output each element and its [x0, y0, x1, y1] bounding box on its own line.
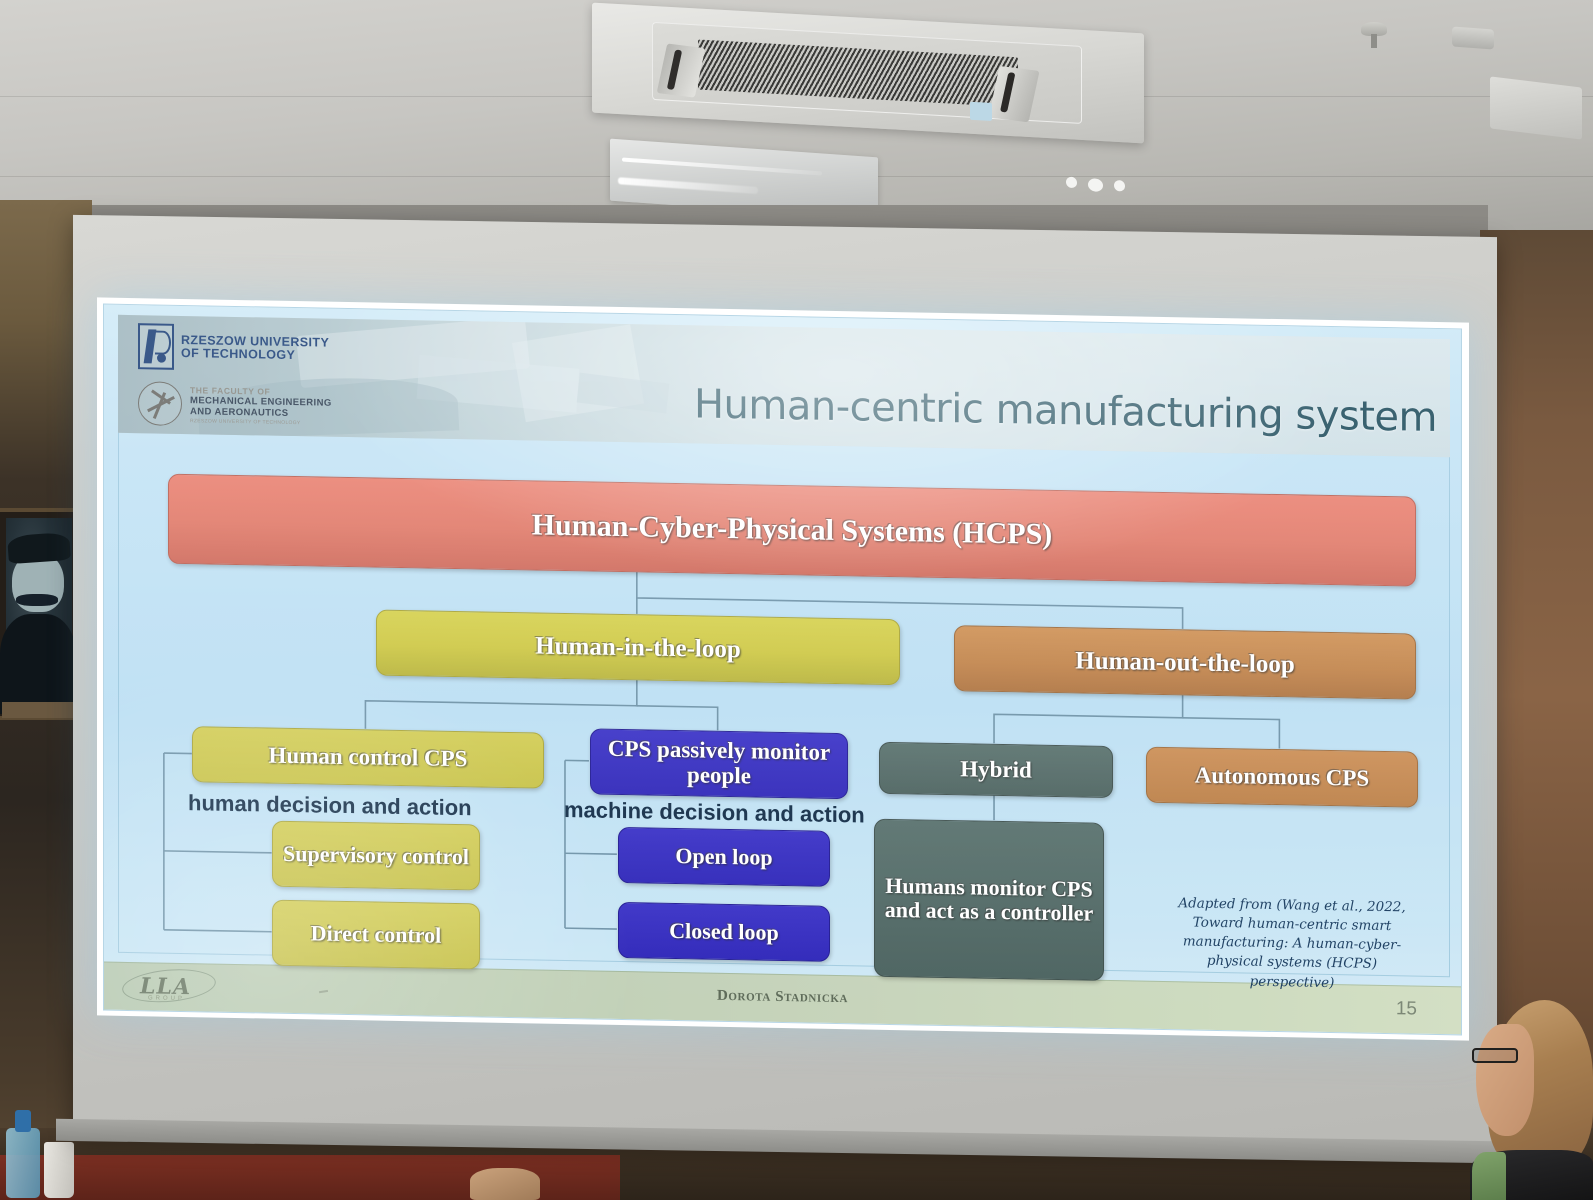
- attendee-glasses-icon: [1472, 1048, 1518, 1063]
- ceiling-speaker: [1452, 27, 1494, 50]
- box-supervisory-control[interactable]: Supervisory control: [272, 821, 480, 891]
- seated-attendee: [1470, 1000, 1593, 1200]
- footer-page-number: 15: [1396, 998, 1417, 1020]
- university-name-line2: OF TECHNOLOGY: [181, 347, 329, 363]
- ceiling-vent-right: [1490, 76, 1582, 139]
- portrait-moustache: [16, 594, 58, 606]
- box-open-loop[interactable]: Open loop: [618, 827, 830, 887]
- portrait-canvas: [6, 518, 72, 710]
- portrait-hat: [7, 532, 71, 564]
- water-bottle: [6, 1110, 40, 1198]
- lla-logo-sub: GROUP: [148, 995, 185, 1002]
- caption-human-decision-and-action: human decision and action: [188, 790, 472, 821]
- fire-sprinkler: [1345, 22, 1405, 56]
- light-dot: [1066, 177, 1077, 189]
- caption-machine-decision-and-action: machine decision and action: [564, 797, 865, 829]
- ac-badge: [970, 102, 992, 121]
- attendee-face: [1476, 1024, 1534, 1136]
- portrait-plaque: [2, 702, 80, 718]
- faculty-logo-text: THE FACULTY OF MECHANICAL ENGINEERING AN…: [190, 385, 332, 427]
- box-human-out-the-loop[interactable]: Human-out-the-loop: [954, 625, 1416, 699]
- attendee-hand: [470, 1168, 540, 1200]
- box-closed-loop[interactable]: Closed loop: [618, 902, 830, 962]
- source-citation: Adapted from (Wang et al., 2022, Toward …: [1166, 894, 1418, 994]
- ac-grille: [698, 39, 1018, 107]
- wall-portrait: [0, 508, 82, 720]
- faculty-aeronautics-mark-icon: [138, 381, 182, 426]
- attendee-collar: [1472, 1152, 1506, 1200]
- bottle-body: [6, 1128, 40, 1198]
- presentation-slide: RZESZOW UNIVERSITY OF TECHNOLOGY THE FAC…: [97, 297, 1469, 1040]
- box-humans-monitor-cps-controller[interactable]: Humans monitor CPS and act as a controll…: [874, 819, 1104, 981]
- light-dot: [1114, 180, 1125, 192]
- faculty-line4: RZESZOW UNIVERSITY OF TECHNOLOGY: [190, 418, 332, 427]
- wing-icon: [151, 390, 171, 405]
- box-direct-control[interactable]: Direct control: [272, 900, 480, 970]
- bottle-cap: [15, 1110, 31, 1132]
- sprinkler-stem: [1371, 34, 1377, 48]
- box-cps-passively-monitor-people[interactable]: CPS passively monitor people: [590, 728, 848, 799]
- university-logo: RZESZOW UNIVERSITY OF TECHNOLOGY: [138, 323, 332, 373]
- paper-cup: [44, 1142, 74, 1198]
- institution-logos: RZESZOW UNIVERSITY OF TECHNOLOGY THE FAC…: [138, 323, 332, 429]
- box-hybrid[interactable]: Hybrid: [879, 742, 1113, 798]
- light-dot: [1088, 178, 1103, 192]
- box-human-control-cps[interactable]: Human control CPS: [192, 726, 544, 788]
- university-logo-text: RZESZOW UNIVERSITY OF TECHNOLOGY: [181, 334, 329, 363]
- faculty-logo: THE FACULTY OF MECHANICAL ENGINEERING AN…: [138, 381, 332, 429]
- rzeszow-university-mark-icon: [138, 323, 174, 370]
- box-autonomous-cps[interactable]: Autonomous CPS: [1146, 747, 1418, 808]
- conference-room-photo: RZESZOW UNIVERSITY OF TECHNOLOGY THE FAC…: [0, 0, 1593, 1200]
- box-human-in-the-loop[interactable]: Human-in-the-loop: [376, 610, 900, 686]
- portrait-body: [0, 614, 76, 714]
- logo-dot-icon: [157, 354, 166, 363]
- slide-canvas: RZESZOW UNIVERSITY OF TECHNOLOGY THE FAC…: [103, 304, 1462, 1036]
